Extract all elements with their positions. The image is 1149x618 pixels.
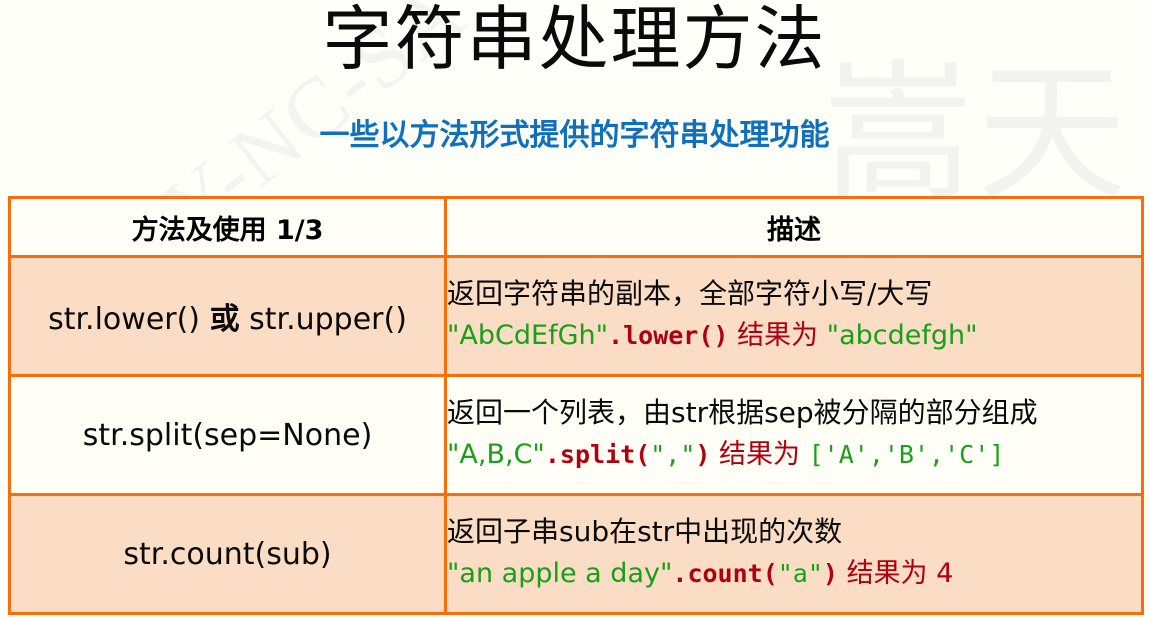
- table-row: str.count(sub) 返回子串sub在str中出现的次数 "an app…: [10, 495, 1143, 614]
- method-name-prefix: str.lower(): [48, 302, 200, 337]
- example-result: 4: [936, 558, 953, 589]
- description-example: "A,B,C".split(",") 结果为 ['A','B','C']: [447, 435, 1141, 476]
- example-call-open: .split(: [545, 440, 650, 469]
- example-call-arg: ",": [650, 440, 695, 469]
- description-text: 返回一个列表，由str根据sep被分隔的部分组成: [447, 394, 1141, 433]
- example-receiver: "AbCdEfGh": [447, 320, 608, 351]
- description-text: 返回字符串的副本，全部字符小写/大写: [447, 275, 1141, 314]
- example-connector: 结果为: [719, 439, 800, 470]
- description-example: "AbCdEfGh".lower() 结果为 "abcdefgh": [447, 316, 1141, 357]
- slide-page: 字符串处理方法 一些以方法形式提供的字符串处理功能 方法及使用 1/3 描述 s…: [0, 0, 1149, 618]
- example-call-close: ): [695, 440, 710, 469]
- example-call-arg: "a": [778, 559, 823, 588]
- table-row: str.split(sep=None) 返回一个列表，由str根据sep被分隔的…: [10, 376, 1143, 495]
- method-name-conjunction: 或: [210, 302, 240, 337]
- example-call: .lower(): [608, 321, 728, 350]
- page-title: 字符串处理方法: [0, 0, 1149, 81]
- description-text: 返回子串sub在str中出现的次数: [447, 513, 1141, 552]
- description-example: "an apple a day".count("a") 结果为 4: [447, 554, 1141, 595]
- example-connector: 结果为: [737, 320, 818, 351]
- table-header-row: 方法及使用 1/3 描述: [10, 198, 1143, 257]
- method-description-cell: 返回一个列表，由str根据sep被分隔的部分组成 "A,B,C".split("…: [446, 376, 1143, 495]
- method-name-cell: str.count(sub): [10, 495, 446, 614]
- table-row: str.lower() 或 str.upper() 返回字符串的副本，全部字符小…: [10, 257, 1143, 376]
- example-result: ['A','B','C']: [809, 440, 1005, 469]
- method-description-cell: 返回子串sub在str中出现的次数 "an apple a day".count…: [446, 495, 1143, 614]
- page-subtitle: 一些以方法形式提供的字符串处理功能: [0, 118, 1149, 154]
- method-name-prefix: str.count(sub): [123, 537, 331, 572]
- method-name-cell: str.lower() 或 str.upper(): [10, 257, 446, 376]
- example-call-close: ): [823, 559, 838, 588]
- string-methods-table: 方法及使用 1/3 描述 str.lower() 或 str.upper() 返…: [8, 196, 1144, 615]
- method-description-cell: 返回字符串的副本，全部字符小写/大写 "AbCdEfGh".lower() 结果…: [446, 257, 1143, 376]
- example-call-open: .count(: [672, 559, 777, 588]
- column-header-description: 描述: [446, 198, 1143, 257]
- method-name-prefix: str.split(sep=None): [83, 418, 373, 453]
- method-name-cell: str.split(sep=None): [10, 376, 446, 495]
- method-name-suffix: str.upper(): [249, 302, 407, 337]
- example-result: "abcdefgh": [827, 320, 978, 351]
- example-receiver: "an apple a day": [447, 558, 672, 589]
- column-header-method: 方法及使用 1/3: [10, 198, 446, 257]
- example-connector: 结果为: [847, 558, 928, 589]
- example-receiver: "A,B,C": [447, 439, 545, 470]
